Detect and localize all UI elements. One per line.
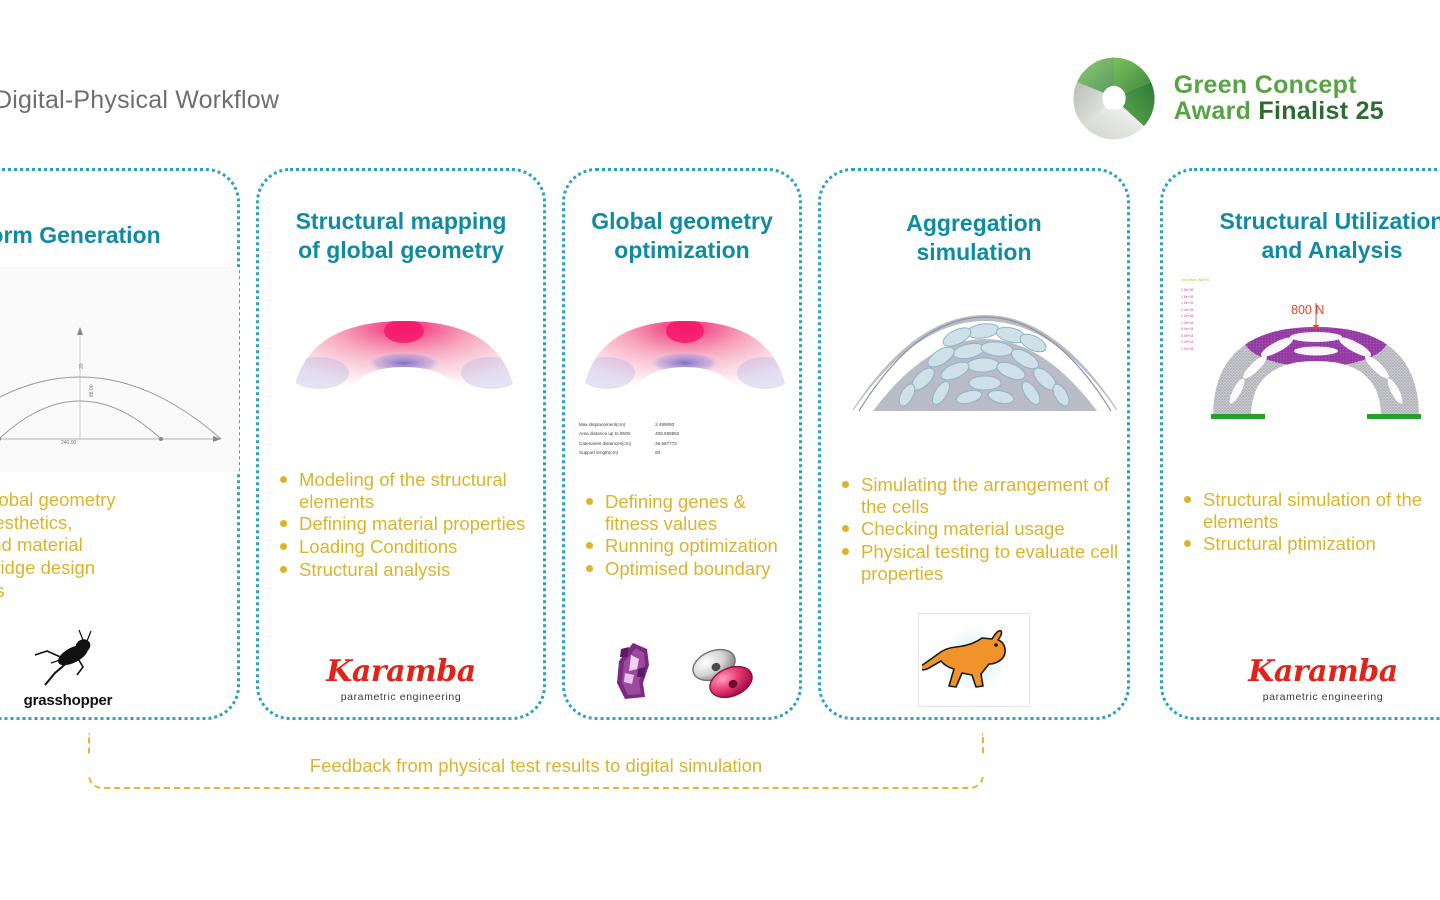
list-item: Modeling of the structural elements (299, 469, 537, 512)
karamba-subtitle: parametric engineering (326, 691, 475, 703)
card-brand-solvers (565, 619, 799, 705)
readout-value: 408.659952 (633, 430, 679, 437)
table-row: Area distance up to 8500 408.659952 (579, 430, 679, 437)
card-bullets: Simulating the arrangement of the cells … (821, 474, 1127, 585)
list-item: Defining bridge design (0, 557, 231, 579)
list-item: Defining material properties (299, 513, 537, 535)
bridge-arch-dimension-drawing: 60.00 240.00 20 88.00 (0, 267, 239, 472)
list-item: Checking material usage (861, 518, 1121, 540)
list-item-label: Structural analysis (299, 559, 450, 580)
list-item-label: Running optimization (605, 535, 778, 556)
award-logo-line1: Green Concept (1174, 72, 1384, 98)
list-item-label: Modeling of the structural elements (299, 469, 507, 512)
list-item: Simulating the arrangement of the cells (861, 474, 1121, 517)
card-bullets: Defining global geometry Defining aesthe… (0, 489, 237, 602)
bullet-dot-icon (842, 525, 849, 532)
readout-value: 36.687772 (633, 440, 679, 447)
readout-label: Max displacement(cm) (579, 421, 631, 428)
load-label: 800 N (1291, 303, 1324, 317)
kangaroo-icon (922, 617, 1026, 703)
list-item-label: Defining genes & fitness values (605, 491, 746, 534)
karamba-wordmark: Karamba (1248, 657, 1397, 687)
optimization-readout-table: Max displacement(cm) 2.489093 Area dista… (577, 419, 681, 459)
award-logo-line2: Award Finalist 25 (1174, 98, 1384, 124)
card-brand-kangaroo (821, 611, 1127, 707)
bullet-dot-icon (586, 565, 593, 572)
card-title: Structural Utilization and Analysis (1163, 207, 1440, 266)
readout-label: Catenaries distances(cm) (579, 440, 631, 447)
table-row: Max displacement(cm) 2.489093 (579, 421, 679, 428)
list-item-label: Simulating the arrangement of the cells (861, 474, 1109, 517)
card-structural-utilization-analysis[interactable]: Structural Utilization and Analysis (1160, 168, 1440, 720)
bullet-dot-icon (280, 520, 287, 527)
card-title-line-2: of global geometry (269, 236, 533, 265)
bullet-dot-icon (280, 476, 287, 483)
grasshopper-insect-icon (25, 629, 111, 691)
page-title: Digital-Physical Workflow (0, 86, 279, 115)
bullet-dot-icon (1184, 496, 1191, 503)
green-concept-award-pinwheel-icon (1070, 54, 1158, 142)
list-item-label: Physical testing to evaluate cell proper… (861, 541, 1118, 584)
card-form-generation[interactable]: Form Generation 60.00 240.00 20 88.00 De… (0, 168, 240, 720)
readout-label: Support length(cm) (579, 449, 631, 456)
list-item: Defining genes & fitness values (605, 491, 793, 534)
galapagos-cells-icon (683, 641, 761, 705)
bullet-dot-icon (586, 542, 593, 549)
list-item: Structural simulation of the elements (1203, 489, 1440, 532)
card-title-line-2: optimization (575, 236, 789, 265)
card-title-line-1: Structural mapping (269, 207, 533, 236)
list-item: Physical testing to evaluate cell proper… (861, 541, 1121, 584)
list-item: Loading Conditions (299, 536, 537, 558)
readout-label: Area distance up to 8500 (579, 430, 631, 437)
svg-text:240.00: 240.00 (61, 440, 77, 446)
fea-legend: Von Mises (N/m^2) 2.0e+05 1.8e+05 1.6e+0… (1181, 277, 1210, 352)
card-structural-mapping[interactable]: Structural mapping of global geometry (256, 168, 546, 720)
svg-text:88.00: 88.00 (89, 384, 95, 397)
card-title-line-1: Structural Utilization (1173, 207, 1440, 236)
card-bullets: Structural simulation of the elements St… (1163, 489, 1440, 556)
feedback-label: Feedback from physical test results to d… (88, 755, 984, 777)
card-aggregation-simulation[interactable]: Aggregation simulation (818, 168, 1130, 720)
bullet-dot-icon (842, 481, 849, 488)
list-item-label: Structural ptimization (1203, 533, 1376, 554)
list-item-label: Optimised boundary (605, 558, 771, 579)
award-logo-award-word: Award (1174, 97, 1251, 125)
legend-value: 2.0e+04 (1181, 346, 1210, 352)
bullet-dot-icon (280, 543, 287, 550)
card-bullets: Modeling of the structural elements Defi… (259, 469, 543, 581)
card-bullets: Defining genes & fitness values Running … (565, 491, 799, 581)
list-item: parameters (0, 580, 231, 602)
readout-value: 2.489093 (633, 421, 679, 428)
card-title: Structural mapping of global geometry (259, 207, 543, 266)
list-item-label: Structural simulation of the elements (1203, 489, 1422, 532)
card-title-line-2: simulation (831, 238, 1117, 267)
card-brand-karamba: Karamba parametric engineering (259, 623, 543, 703)
list-item: function and material (0, 534, 231, 556)
card-global-geometry-optimization[interactable]: Global geometry optimization (562, 168, 802, 720)
card-title-line-1: Aggregation (831, 209, 1117, 238)
stress-heatmap-arch-with-readout (553, 307, 817, 417)
bullet-dot-icon (1184, 540, 1191, 547)
stress-heatmap-arch (259, 307, 549, 417)
list-item: Structural analysis (299, 559, 537, 581)
green-concept-award-logo: Green Concept Award Finalist 25 (1070, 54, 1384, 142)
readout-value: 60 (633, 449, 679, 456)
bullet-dot-icon (280, 566, 287, 573)
feedback-loop: Feedback from physical test results to d… (88, 733, 984, 789)
fea-legend-title: Von Mises (N/m^2) (1181, 277, 1210, 283)
card-title-line-1: Global geometry (575, 207, 789, 236)
svg-text:20: 20 (79, 363, 85, 369)
card-title: Form Generation (0, 221, 237, 250)
workflow-cards: Form Generation 60.00 240.00 20 88.00 De… (0, 168, 1440, 720)
card-title: Aggregation simulation (821, 209, 1127, 268)
table-row: Support length(cm) 60 (579, 449, 679, 456)
grasshopper-wordmark: grasshopper (24, 692, 113, 709)
card-brand-grasshopper: grasshopper (0, 619, 237, 709)
card-title: Global geometry optimization (565, 207, 799, 266)
list-item: Structural ptimization (1203, 533, 1440, 555)
list-item: Defining aesthetics, (0, 512, 231, 534)
karamba-subtitle: parametric engineering (1248, 691, 1397, 703)
list-item-label: Checking material usage (861, 518, 1065, 539)
table-row: Catenaries distances(cm) 36.687772 (579, 440, 679, 447)
list-item: Defining global geometry (0, 489, 231, 511)
list-item: Running optimization (605, 535, 793, 557)
karamba-wordmark: Karamba (326, 657, 475, 687)
aggregated-cells-over-arch (845, 291, 1125, 416)
card-brand-karamba: Karamba parametric engineering (1163, 623, 1440, 703)
bullet-dot-icon (586, 498, 593, 505)
list-item-label: Loading Conditions (299, 536, 457, 557)
list-item: Optimised boundary (605, 558, 793, 580)
card-title-line-2: and Analysis (1173, 236, 1440, 265)
wallacei-purple-figure-icon (603, 639, 669, 705)
list-item-label: Defining material properties (299, 513, 525, 534)
bullet-dot-icon (842, 548, 849, 555)
award-logo-finalist-word: Finalist 25 (1258, 97, 1384, 125)
